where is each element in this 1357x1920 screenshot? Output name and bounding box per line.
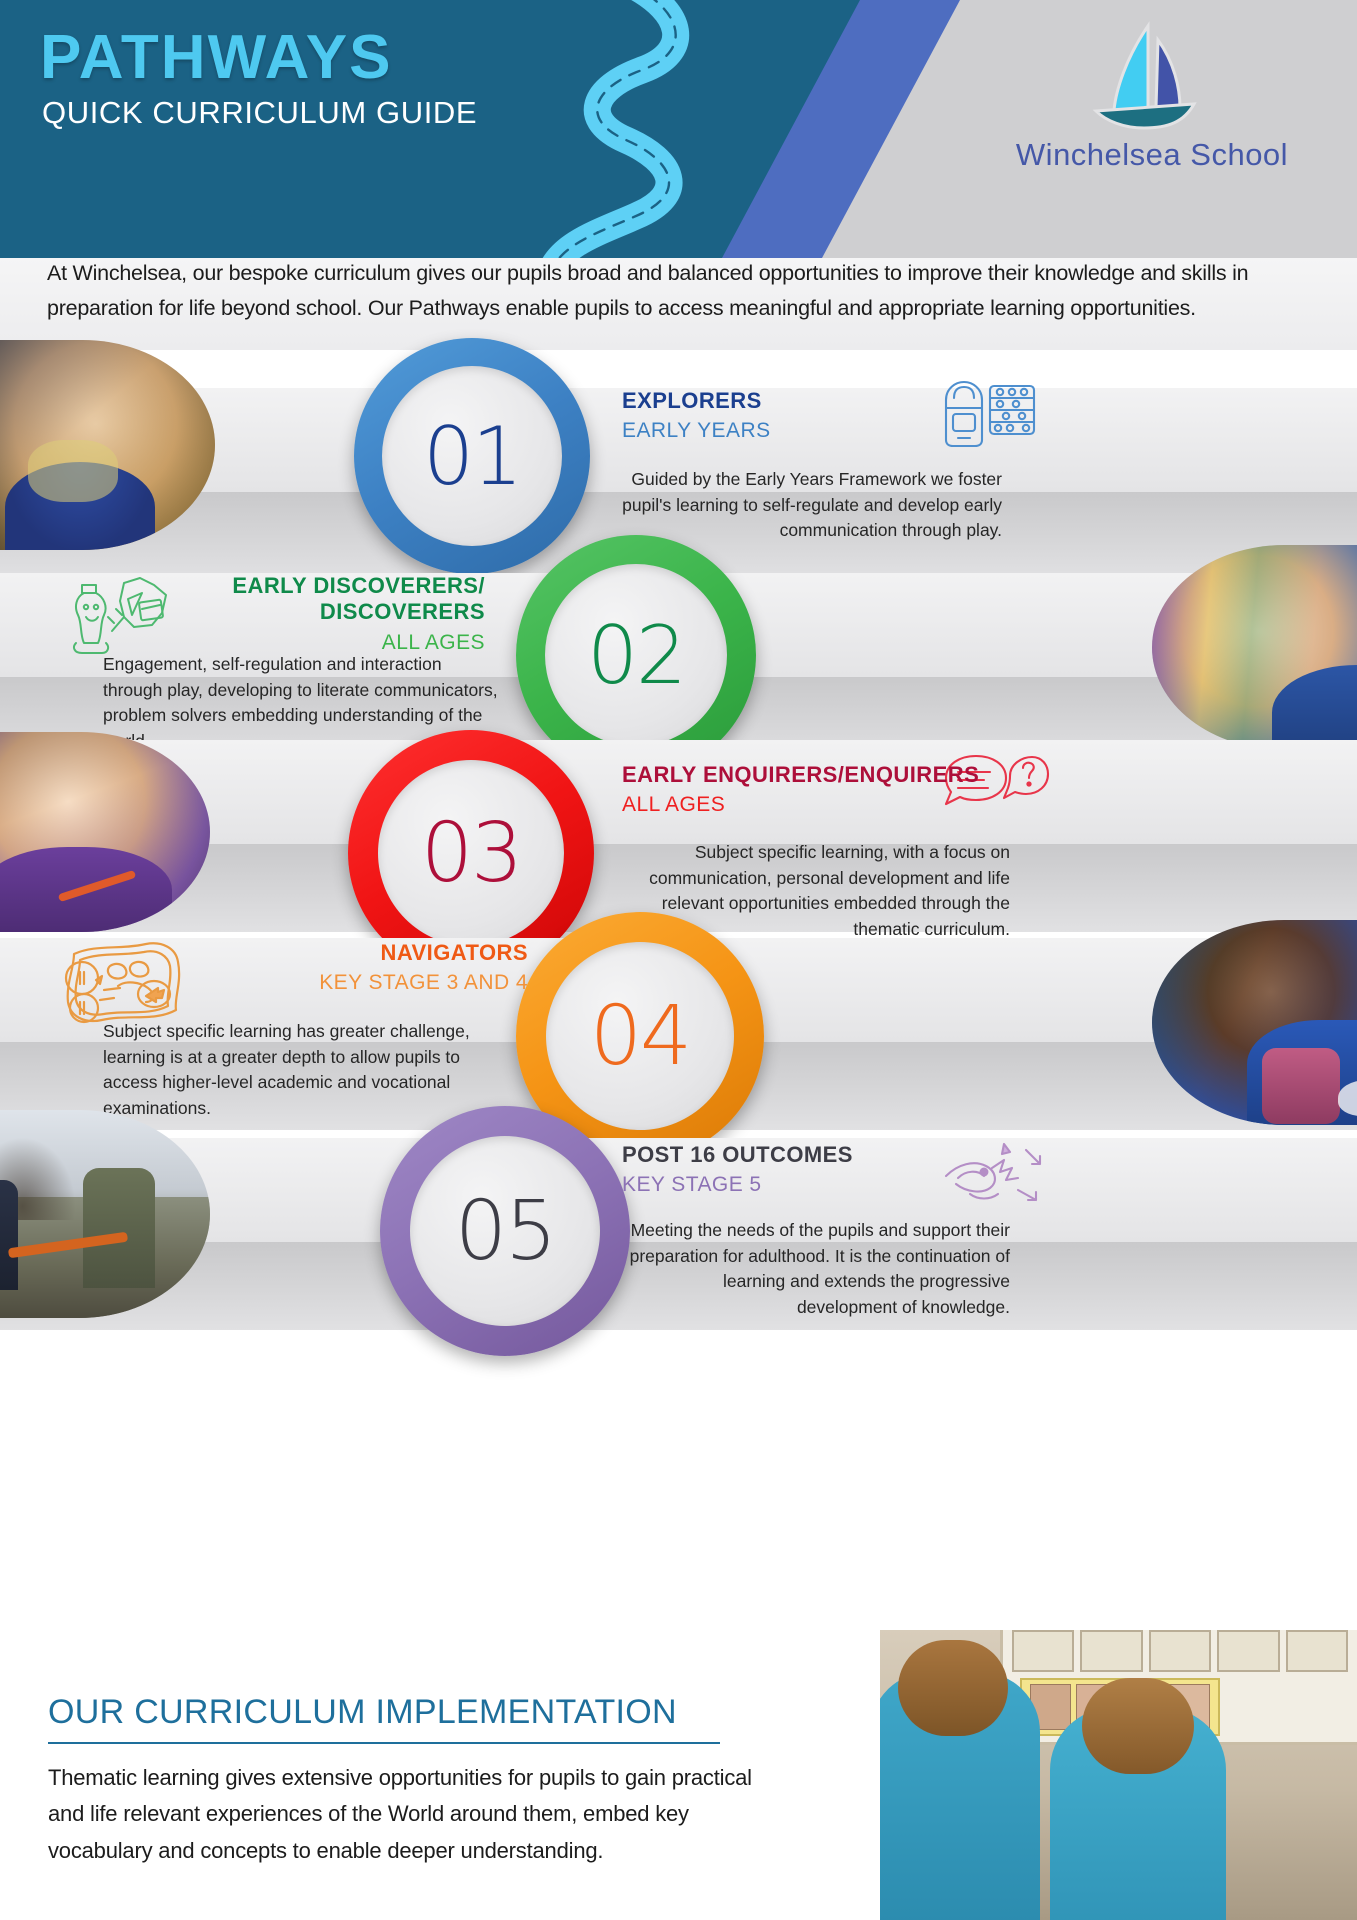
- footer-divider: [48, 1742, 720, 1744]
- pathway-title-block-02: EARLY DISCOVERERS/ DISCOVERERS ALL AGES: [100, 573, 485, 657]
- photo-children-laughing: [0, 732, 210, 932]
- pathway-circle-inner-04: 04: [546, 942, 734, 1130]
- pathway-row-01: 01: [0, 350, 1357, 562]
- pathway-number-02: 02: [587, 609, 685, 702]
- pathway-circle-inner-05: 05: [410, 1136, 600, 1326]
- pathway-subtitle-05: KEY STAGE 5: [622, 1171, 1052, 1199]
- pathway-description-04: Subject specific learning has greater ch…: [103, 1019, 498, 1122]
- pathway-circle-inner-03: 03: [378, 760, 564, 946]
- pathway-subtitle-01: EARLY YEARS: [622, 417, 1052, 445]
- pathway-row-05: 05: [0, 1120, 1357, 1328]
- pathway-number-01: 01: [423, 410, 521, 503]
- pathway-title-01: EXPLORERS: [622, 388, 1052, 414]
- pathway-title-05: POST 16 OUTCOMES: [622, 1142, 1052, 1168]
- intro-section: At Winchelsea, our bespoke curriculum gi…: [0, 258, 1357, 350]
- pathway-title-block-03: EARLY ENQUIRERS/ENQUIRERS ALL AGES: [622, 762, 1052, 820]
- school-name: Winchelsea School: [997, 137, 1307, 173]
- page-title: PATHWAYS: [40, 22, 392, 93]
- pathway-number-04: 04: [590, 989, 690, 1084]
- pathway-title-02: EARLY DISCOVERERS/ DISCOVERERS: [100, 573, 485, 626]
- pathway-circle-02: 02: [516, 535, 756, 775]
- photo-student-cooking: [1152, 920, 1357, 1125]
- pathway-title-03: EARLY ENQUIRERS/ENQUIRERS: [622, 762, 1052, 788]
- footer-heading: OUR CURRICULUM IMPLEMENTATION: [48, 1693, 677, 1732]
- footer-section: OUR CURRICULUM IMPLEMENTATION Thematic l…: [0, 1630, 1357, 1920]
- pathway-title-block-05: POST 16 OUTCOMES KEY STAGE 5: [622, 1142, 1052, 1200]
- pathway-circle-05: 05: [380, 1106, 630, 1356]
- pathway-circle-inner-02: 02: [545, 564, 727, 746]
- pathway-title-04: NAVIGATORS: [100, 940, 528, 966]
- pathway-circle-01: 01: [354, 338, 590, 574]
- school-logo: Winchelsea School: [997, 18, 1307, 173]
- photo-girl-with-blocks: [1152, 545, 1357, 750]
- pathway-number-03: 03: [421, 806, 521, 901]
- header-banner: PATHWAYS QUICK CURRICULUM GUIDE Winchels…: [0, 0, 1357, 258]
- pathway-row-04: 04: [0, 928, 1357, 1133]
- photo-pupils-at-emotion-board: [880, 1630, 1357, 1920]
- page-subtitle: QUICK CURRICULUM GUIDE: [42, 95, 477, 131]
- pathway-subtitle-03: ALL AGES: [622, 791, 1052, 819]
- photo-boy-smiling: [0, 340, 215, 550]
- pathway-description-01: Guided by the Early Years Framework we f…: [622, 467, 1002, 544]
- pathways-list: 01: [0, 350, 1357, 1630]
- footer-body-text: Thematic learning gives extensive opport…: [48, 1760, 758, 1869]
- pathway-subtitle-04: KEY STAGE 3 AND 4: [100, 969, 528, 997]
- pathway-description-05: Meeting the needs of the pupils and supp…: [622, 1218, 1010, 1321]
- sailboat-icon: [1062, 18, 1242, 130]
- winding-road-icon: [430, 0, 760, 258]
- pathway-row-03: 03 EARLY ENQUIRERS/ENQUIRERS: [0, 740, 1357, 940]
- infographic-page: PATHWAYS QUICK CURRICULUM GUIDE Winchels…: [0, 0, 1357, 1920]
- intro-text: At Winchelsea, our bespoke curriculum gi…: [47, 256, 1317, 326]
- pathway-number-05: 05: [455, 1184, 555, 1279]
- pathway-row-02: 02: [0, 555, 1357, 760]
- pathway-title-block-01: EXPLORERS EARLY YEARS: [622, 388, 1052, 446]
- pathway-title-block-04: NAVIGATORS KEY STAGE 3 AND 4: [100, 940, 528, 998]
- pathway-circle-inner-01: 01: [382, 366, 562, 546]
